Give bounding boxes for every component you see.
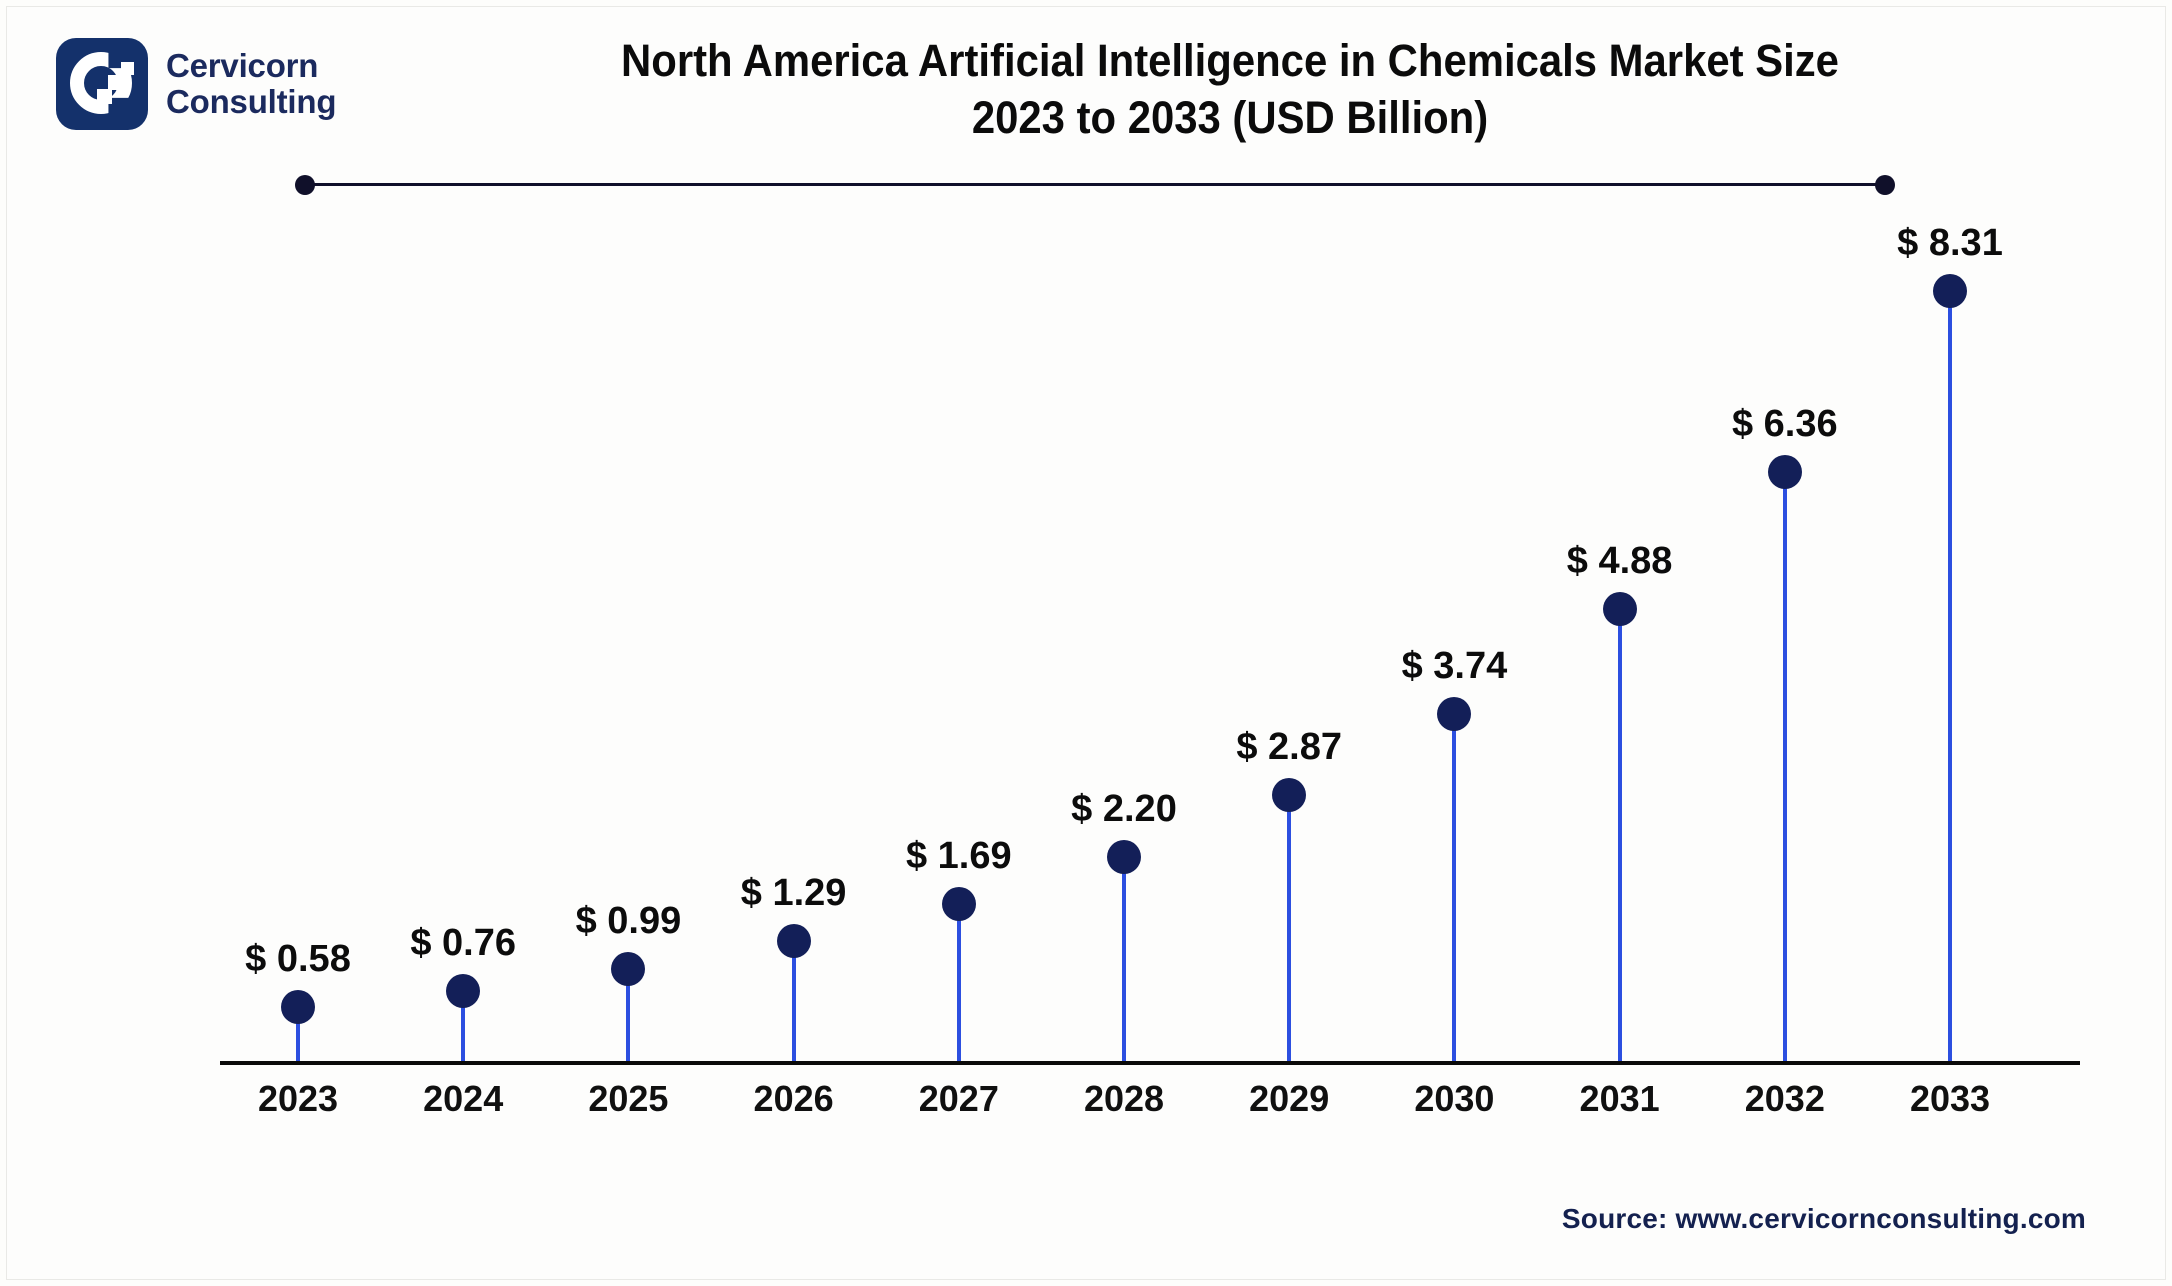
brand-name-line2: Consulting	[166, 84, 336, 120]
brand-name: Cervicorn Consulting	[166, 48, 336, 119]
data-point-marker[interactable]	[611, 952, 645, 986]
x-axis-tick-labels: 2023202420252026202720282029203020312032…	[220, 1078, 2080, 1130]
data-point-label: $ 1.69	[829, 835, 1089, 878]
data-point-label: $ 3.74	[1324, 645, 1584, 688]
data-point-marker[interactable]	[1272, 778, 1306, 812]
chart-title-line2: 2023 to 2033 (USD Billion)	[458, 89, 2002, 146]
x-axis-tick-2030: 2030	[1364, 1078, 1544, 1120]
x-axis-tick-2027: 2027	[869, 1078, 1049, 1120]
decorative-rule	[295, 172, 1895, 198]
x-axis-tick-2029: 2029	[1199, 1078, 1379, 1120]
x-axis-tick-2031: 2031	[1530, 1078, 1710, 1120]
decorative-rule-dot-right	[1875, 175, 1895, 195]
x-axis-tick-2028: 2028	[1034, 1078, 1214, 1120]
x-axis-tick-2024: 2024	[373, 1078, 553, 1120]
stem-line	[1122, 857, 1126, 1061]
stem-line	[957, 904, 961, 1061]
x-axis-tick-2025: 2025	[538, 1078, 718, 1120]
x-axis-tick-2023: 2023	[208, 1078, 388, 1120]
data-point-marker[interactable]	[446, 974, 480, 1008]
stem-line	[1948, 291, 1952, 1061]
x-axis-tick-2026: 2026	[704, 1078, 884, 1120]
data-point-marker[interactable]	[1933, 274, 1967, 308]
chart-title: North America Artificial Intelligence in…	[458, 32, 2002, 146]
data-point-marker[interactable]	[281, 990, 315, 1024]
stem-line	[1783, 472, 1787, 1061]
x-axis-tick-2032: 2032	[1695, 1078, 1875, 1120]
source-note: Source: www.cervicornconsulting.com	[1562, 1203, 2086, 1235]
data-point-marker[interactable]	[1437, 697, 1471, 731]
decorative-rule-bar	[305, 183, 1885, 186]
chart-page: Cervicorn Consulting North America Artif…	[0, 0, 2172, 1286]
stem-line	[1287, 795, 1291, 1061]
data-point-label: $ 4.88	[1490, 540, 1750, 583]
data-point-marker[interactable]	[777, 924, 811, 958]
stem-line	[1452, 714, 1456, 1061]
data-point-label: $ 1.29	[664, 872, 924, 915]
plot-area: $ 0.58$ 0.76$ 0.99$ 1.29$ 1.69$ 2.20$ 2.…	[220, 220, 2080, 1065]
brand-name-line1: Cervicorn	[166, 48, 336, 84]
stem-line	[792, 941, 796, 1061]
cervicorn-c-mark-icon	[56, 38, 148, 130]
data-point-label: $ 2.87	[1159, 726, 1419, 769]
brand-logo: Cervicorn Consulting	[56, 38, 336, 130]
chart-title-line1: North America Artificial Intelligence in…	[458, 32, 2002, 89]
x-axis-tick-2033: 2033	[1860, 1078, 2040, 1120]
stem-line	[1618, 609, 1622, 1061]
data-point-label: $ 8.31	[1820, 222, 2080, 265]
data-point-label: $ 6.36	[1655, 403, 1915, 446]
data-point-marker[interactable]	[1603, 592, 1637, 626]
x-axis-line	[220, 1061, 2080, 1065]
data-point-marker[interactable]	[1768, 455, 1802, 489]
data-point-marker[interactable]	[1107, 840, 1141, 874]
data-point-label: $ 2.20	[994, 788, 1254, 831]
data-point-marker[interactable]	[942, 887, 976, 921]
